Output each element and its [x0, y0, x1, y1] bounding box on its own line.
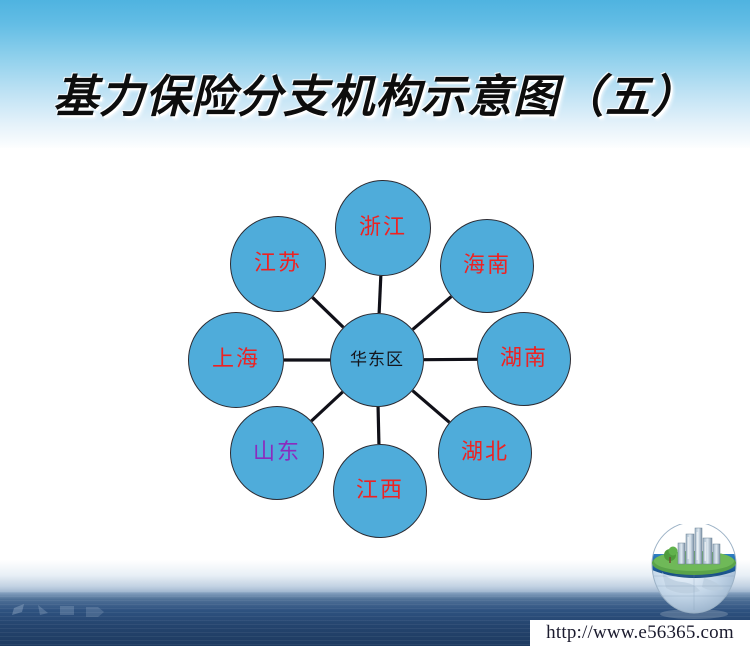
diagram-node-huadong[interactable]: 华东区: [330, 313, 424, 407]
node-label-shanghai: 上海: [212, 348, 260, 370]
slide-canvas: 基力保险分支机构示意图（五） 浙江海南湖南湖北江西山东上海江苏华东区: [0, 0, 750, 646]
node-label-hainan: 海南: [463, 254, 511, 276]
diagram-node-hubei[interactable]: 湖北: [438, 406, 532, 500]
diagram-node-hunan[interactable]: 湖南: [477, 312, 571, 406]
node-label-jiangxi: 江西: [356, 479, 404, 501]
org-diagram: 浙江海南湖南湖北江西山东上海江苏华东区: [0, 0, 750, 646]
diagram-node-shandong[interactable]: 山东: [230, 406, 324, 500]
connector-hainan: [413, 297, 452, 330]
diagram-node-zhejiang[interactable]: 浙江: [335, 180, 431, 276]
watermark-bar: http://www.e56365.com: [530, 620, 750, 646]
diagram-node-jiangxi[interactable]: 江西: [333, 444, 427, 538]
globe-city-logo: [642, 524, 746, 620]
diagram-node-hainan[interactable]: 海南: [440, 219, 534, 313]
connector-hubei: [413, 391, 450, 423]
node-label-zhejiang: 浙江: [359, 216, 407, 238]
node-label-huadong: 华东区: [350, 351, 404, 368]
node-label-hunan: 湖南: [500, 347, 548, 369]
diagram-node-shanghai[interactable]: 上海: [188, 312, 284, 408]
node-label-shandong: 山东: [253, 441, 301, 463]
connector-shandong: [311, 392, 342, 421]
node-label-hubei: 湖北: [461, 441, 509, 463]
watermark-url[interactable]: http://www.e56365.com: [546, 622, 734, 644]
diagram-node-jiangsu[interactable]: 江苏: [230, 216, 326, 312]
connector-zhejiang: [379, 276, 381, 313]
node-label-jiangsu: 江苏: [254, 252, 302, 274]
connector-jiangsu: [312, 297, 343, 327]
connector-jiangxi: [378, 407, 379, 444]
